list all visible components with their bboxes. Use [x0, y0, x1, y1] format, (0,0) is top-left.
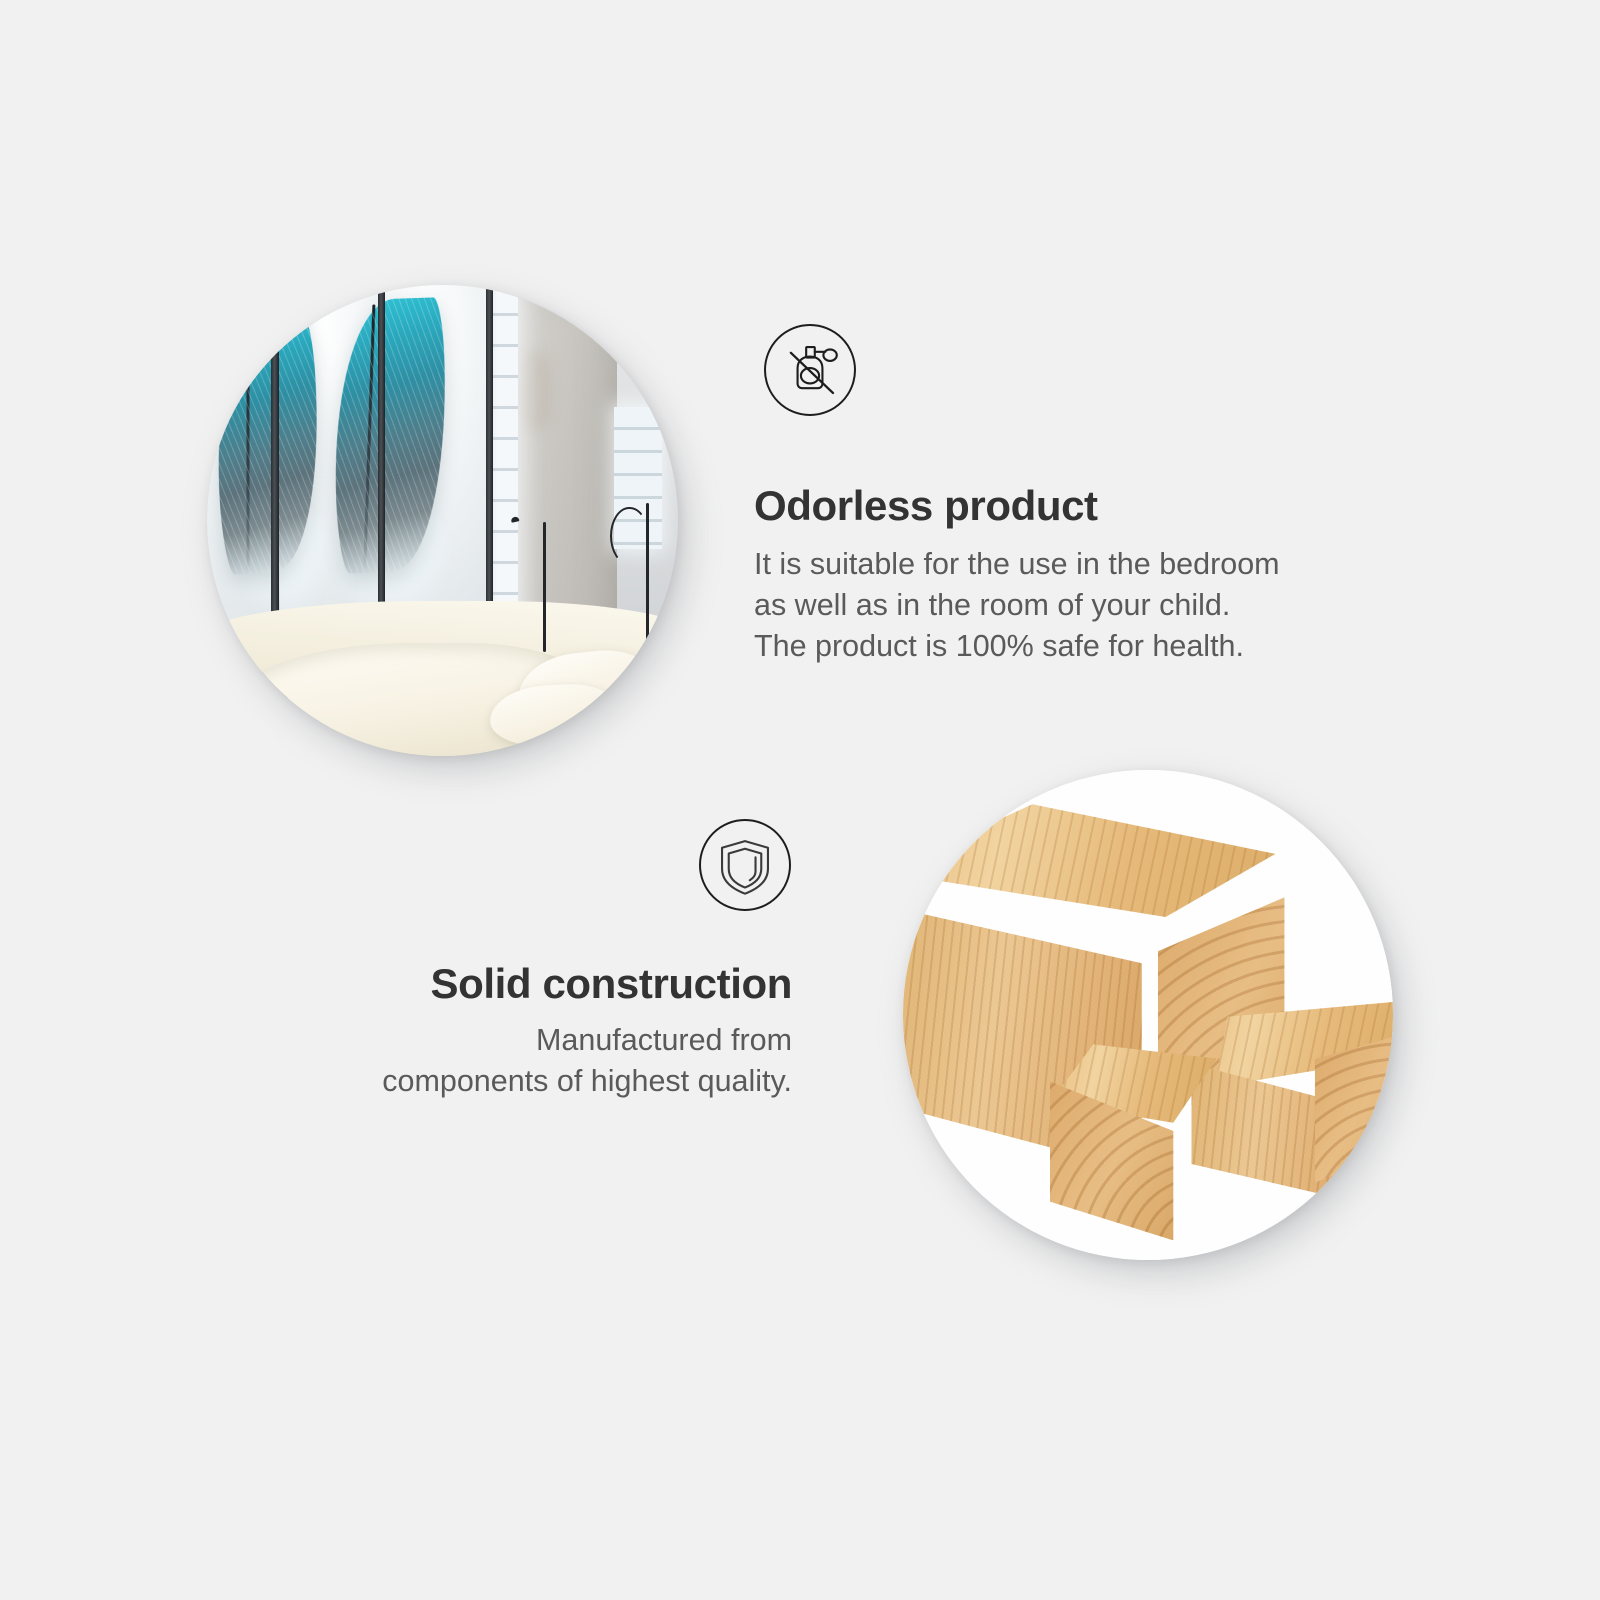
- floor-lamp-1: [508, 511, 583, 652]
- feature-text-odorless: Odorless product It is suitable for the …: [754, 484, 1454, 667]
- panel-divider-2: [378, 285, 386, 652]
- panel-divider-1: [271, 285, 279, 652]
- shield-icon: [699, 819, 791, 911]
- panel-divider-3: [486, 285, 494, 652]
- floor-lamp-2: [603, 497, 678, 657]
- feature-image-wood-blocks: [903, 770, 1393, 1260]
- feature-image-bedroom-feather: [207, 285, 678, 756]
- feature-body-solid-construction: Manufactured from components of highest …: [200, 1020, 792, 1102]
- feature-heading-odorless: Odorless product: [754, 484, 1454, 528]
- infographic-canvas: Odorless product It is suitable for the …: [0, 0, 1600, 1600]
- feature-heading-solid-construction: Solid construction: [200, 962, 792, 1006]
- shield-accent-stroke: [750, 857, 756, 880]
- no-perfume-icon: [764, 324, 856, 416]
- feature-text-solid-construction: Solid construction Manufactured from com…: [200, 962, 792, 1102]
- feature-body-odorless: It is suitable for the use in the bedroo…: [754, 544, 1454, 667]
- bedroom-scene: [207, 285, 678, 756]
- perfume-spray-bulb: [823, 349, 836, 360]
